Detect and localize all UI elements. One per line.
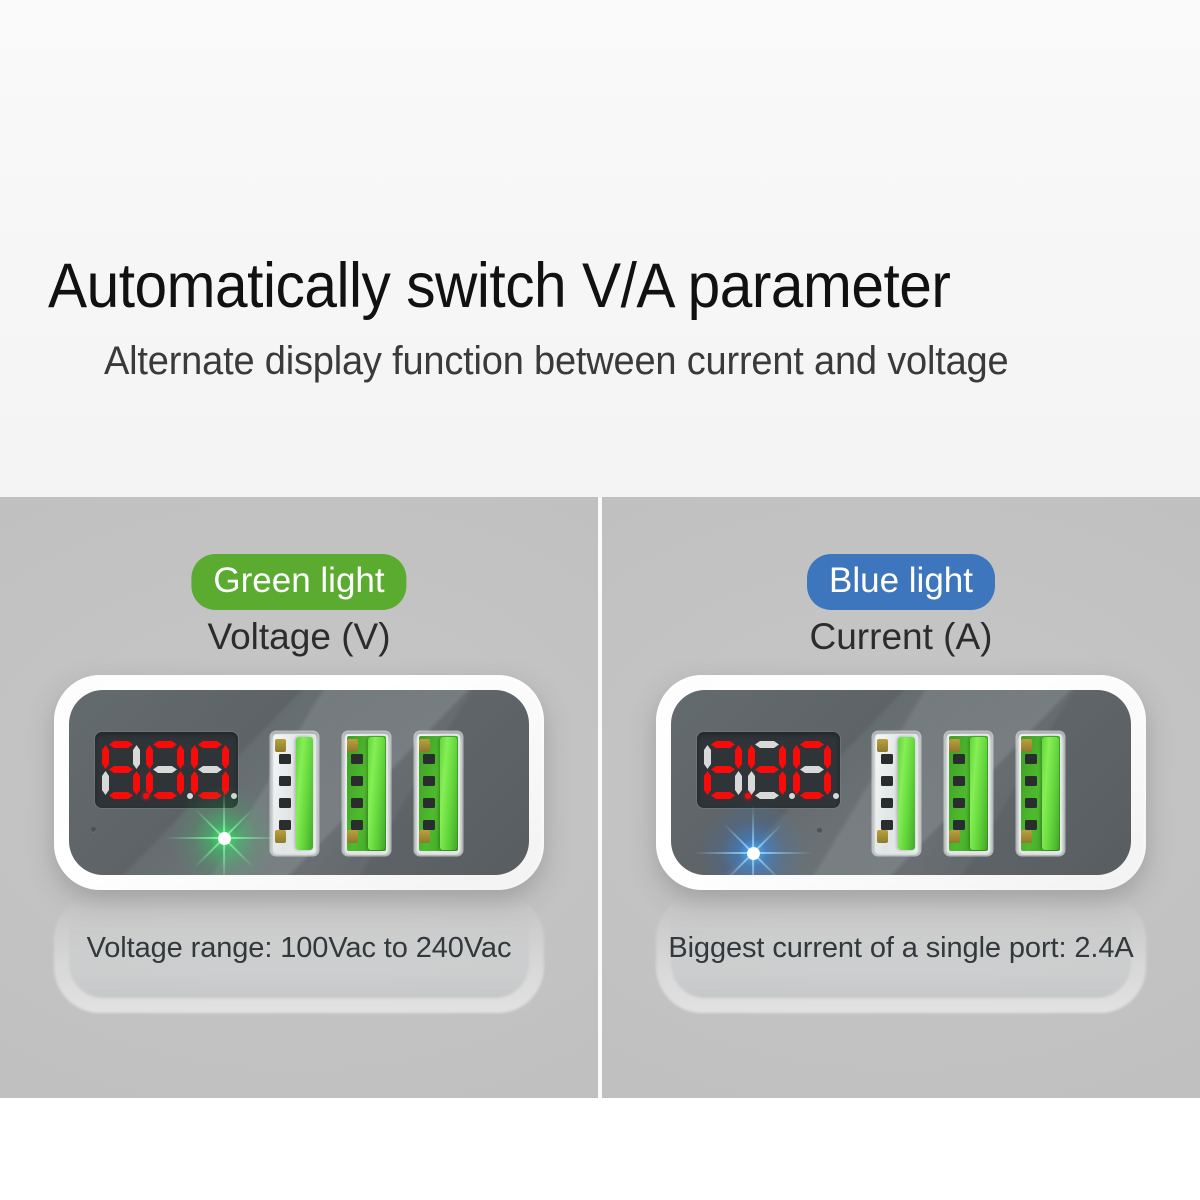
usb-spring-clip	[275, 739, 286, 752]
panel-divider	[598, 497, 602, 1098]
led-digit-2	[748, 741, 786, 799]
usb-charger-device-current	[656, 675, 1146, 890]
usb-contact-pad	[881, 754, 893, 764]
usb-port-1	[873, 732, 920, 855]
caption-voltage-range: Voltage range: 100Vac to 240Vac	[87, 929, 512, 967]
segment-e	[102, 771, 109, 795]
led-digit-3	[793, 741, 831, 799]
usb-spring-clip	[1021, 830, 1032, 843]
segment-f	[191, 745, 198, 769]
usb-contact-pad	[953, 798, 965, 808]
segment-c	[779, 771, 786, 795]
usb-tongue	[296, 737, 313, 850]
segment-c	[133, 771, 140, 795]
usb-contact-pad	[881, 798, 893, 808]
segment-e	[793, 771, 800, 795]
usb-contact-pad	[351, 798, 363, 808]
usb-contact-pad	[881, 820, 893, 830]
header-band: Automatically switch V/A parameter Alter…	[0, 0, 1200, 497]
segment-a	[755, 741, 779, 748]
caption-max-current: Biggest current of a single port: 2.4A	[668, 929, 1133, 967]
usb-spring-clip	[347, 739, 358, 752]
usb-contact-pad	[351, 754, 363, 764]
usb-tongue	[368, 737, 385, 850]
segment-a	[711, 741, 735, 748]
panel-label-voltage: Voltage (V)	[207, 614, 390, 660]
segment-a	[198, 741, 222, 748]
led-decimal-point-3	[833, 793, 839, 799]
usb-port-2	[945, 732, 992, 855]
device-body	[54, 675, 544, 890]
segment-a	[109, 741, 133, 748]
usb-tongue	[898, 737, 915, 850]
segment-c	[735, 771, 742, 795]
status-badge-green-light: Green light	[191, 554, 406, 610]
device-front-face	[69, 690, 529, 875]
device-front-face	[671, 690, 1131, 875]
segment-b	[133, 745, 140, 769]
segment-e	[146, 771, 153, 795]
usb-port-2	[343, 732, 390, 855]
usb-tongue	[1042, 737, 1059, 850]
segment-c	[824, 771, 831, 795]
usb-contact-pad	[279, 776, 291, 786]
segment-a	[153, 741, 177, 748]
usb-contact-pad	[953, 820, 965, 830]
segment-f	[748, 745, 755, 769]
usb-contact-pad	[351, 820, 363, 830]
footer-band	[0, 1098, 1200, 1200]
panel-current: Blue light Current (A)	[602, 497, 1200, 1098]
led-digit-1	[704, 741, 742, 799]
segment-f	[793, 745, 800, 769]
segment-b	[222, 745, 229, 769]
led-digit-1	[102, 741, 140, 799]
segment-g	[153, 766, 177, 773]
usb-charger-device-voltage	[54, 675, 544, 890]
sensor-pinhole	[817, 828, 822, 833]
segment-g	[198, 766, 222, 773]
usb-port-1	[271, 732, 318, 855]
segment-d	[109, 792, 133, 799]
usb-contact-pad	[423, 754, 435, 764]
usb-contact-pad	[279, 754, 291, 764]
usb-contact-pad	[279, 820, 291, 830]
segment-b	[824, 745, 831, 769]
page-title: Automatically switch V/A parameter	[48, 250, 1090, 322]
usb-spring-clip	[877, 830, 888, 843]
segment-b	[779, 745, 786, 769]
usb-contact-pad	[1025, 798, 1037, 808]
usb-contact-pad	[1025, 820, 1037, 830]
usb-spring-clip	[949, 830, 960, 843]
segment-e	[748, 771, 755, 795]
status-badge-blue-light: Blue light	[807, 554, 995, 610]
usb-contact-pad	[953, 754, 965, 764]
usb-spring-clip	[419, 830, 430, 843]
segment-g	[711, 766, 735, 773]
usb-port-3	[415, 732, 462, 855]
page-subtitle: Alternate display function between curre…	[104, 336, 1102, 386]
usb-spring-clip	[1021, 739, 1032, 752]
blue-led-glow	[693, 793, 813, 875]
usb-spring-clip	[949, 739, 960, 752]
segment-g	[109, 766, 133, 773]
usb-port-3	[1017, 732, 1064, 855]
usb-contact-pad	[953, 776, 965, 786]
usb-tongue	[440, 737, 457, 850]
usb-contact-pad	[351, 776, 363, 786]
glow-ray-vertical	[752, 805, 754, 875]
usb-contact-pad	[881, 776, 893, 786]
usb-spring-clip	[347, 830, 358, 843]
comparison-panels: Green light Voltage (V)	[0, 497, 1200, 1098]
segment-f	[704, 745, 711, 769]
segment-g	[800, 766, 824, 773]
usb-contact-pad	[279, 798, 291, 808]
device-body	[656, 675, 1146, 890]
segment-b	[735, 745, 742, 769]
segment-b	[177, 745, 184, 769]
usb-contact-pad	[1025, 754, 1037, 764]
usb-spring-clip	[877, 739, 888, 752]
segment-g	[755, 766, 779, 773]
led-decimal-point-1	[143, 793, 149, 799]
segment-a	[800, 741, 824, 748]
glow-core	[747, 847, 760, 860]
usb-contact-pad	[423, 820, 435, 830]
sensor-pinhole	[91, 827, 96, 832]
segment-f	[146, 745, 153, 769]
glow-core	[218, 832, 231, 845]
green-led-glow	[164, 778, 284, 875]
usb-spring-clip	[419, 739, 430, 752]
usb-contact-pad	[423, 776, 435, 786]
usb-tongue	[970, 737, 987, 850]
panel-voltage: Green light Voltage (V)	[0, 497, 598, 1098]
usb-spring-clip	[275, 830, 286, 843]
segment-e	[704, 771, 711, 795]
usb-contact-pad	[1025, 776, 1037, 786]
segment-f	[102, 745, 109, 769]
panel-label-current: Current (A)	[810, 614, 993, 660]
usb-contact-pad	[423, 798, 435, 808]
